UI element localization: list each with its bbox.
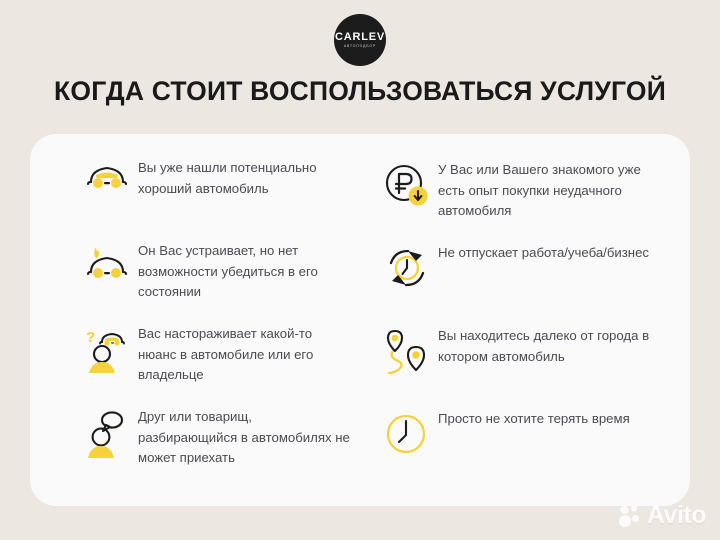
left-column: Вы уже нашли потенциально хороший автомо… bbox=[48, 156, 360, 488]
logo-tagline: АВТОПОДБОР bbox=[344, 45, 376, 48]
list-item-label: Друг или товарищ, разбирающийся в автомо… bbox=[138, 405, 350, 469]
logo-wordmark: CARLEV bbox=[335, 32, 385, 43]
list-item-label: Вас настораживает какой-то нюанс в автом… bbox=[138, 322, 350, 386]
benefits-card: Вы уже нашли потенциально хороший автомо… bbox=[30, 134, 690, 506]
person-speech-bubble-icon bbox=[76, 405, 138, 459]
car-with-flame-icon bbox=[76, 239, 138, 283]
list-item: Не отпускает работа/учеба/бизнес bbox=[376, 239, 664, 322]
list-item: Друг или товарищ, разбирающийся в автомо… bbox=[76, 405, 350, 488]
brand-logo: CARLEV АВТОПОДБОР bbox=[0, 14, 720, 66]
avito-watermark: Avito bbox=[618, 501, 706, 530]
avito-wordmark: Avito bbox=[647, 501, 706, 530]
page-title: КОГДА СТОИТ ВОСПОЛЬЗОВАТЬСЯ УСЛУГОЙ bbox=[0, 76, 720, 107]
list-item: Вы уже нашли потенциально хороший автомо… bbox=[76, 156, 350, 239]
person-question-car-icon: ? bbox=[76, 322, 138, 374]
list-item: Просто не хотите терять время bbox=[376, 405, 664, 488]
car-icon bbox=[76, 156, 138, 192]
list-item-label: У Вас или Вашего знакомого уже есть опыт… bbox=[438, 156, 664, 222]
list-item-label: Он Вас устраивает, но нет возможности уб… bbox=[138, 239, 350, 303]
list-item: У Вас или Вашего знакомого уже есть опыт… bbox=[376, 156, 664, 239]
list-item-label: Вы уже нашли потенциально хороший автомо… bbox=[138, 156, 350, 199]
clock-refresh-icon bbox=[376, 239, 438, 291]
list-item-label: Не отпускает работа/учеба/бизнес bbox=[438, 239, 649, 264]
avito-dots-icon bbox=[618, 503, 644, 529]
list-item: ? Вас настораживает какой-то нюанс в авт… bbox=[76, 322, 350, 405]
logo-circle: CARLEV АВТОПОДБОР bbox=[334, 14, 386, 66]
list-item: Вы находитесь далеко от города в котором… bbox=[376, 322, 664, 405]
clock-icon bbox=[376, 405, 438, 457]
right-column: У Вас или Вашего знакомого уже есть опыт… bbox=[360, 156, 672, 488]
ruble-coin-down-arrow-icon bbox=[376, 156, 438, 208]
list-item-label: Вы находитесь далеко от города в котором… bbox=[438, 322, 664, 367]
list-item-label: Просто не хотите терять время bbox=[438, 405, 630, 430]
map-route-pins-icon bbox=[376, 322, 438, 376]
svg-text:?: ? bbox=[86, 329, 95, 346]
list-item: Он Вас устраивает, но нет возможности уб… bbox=[76, 239, 350, 322]
